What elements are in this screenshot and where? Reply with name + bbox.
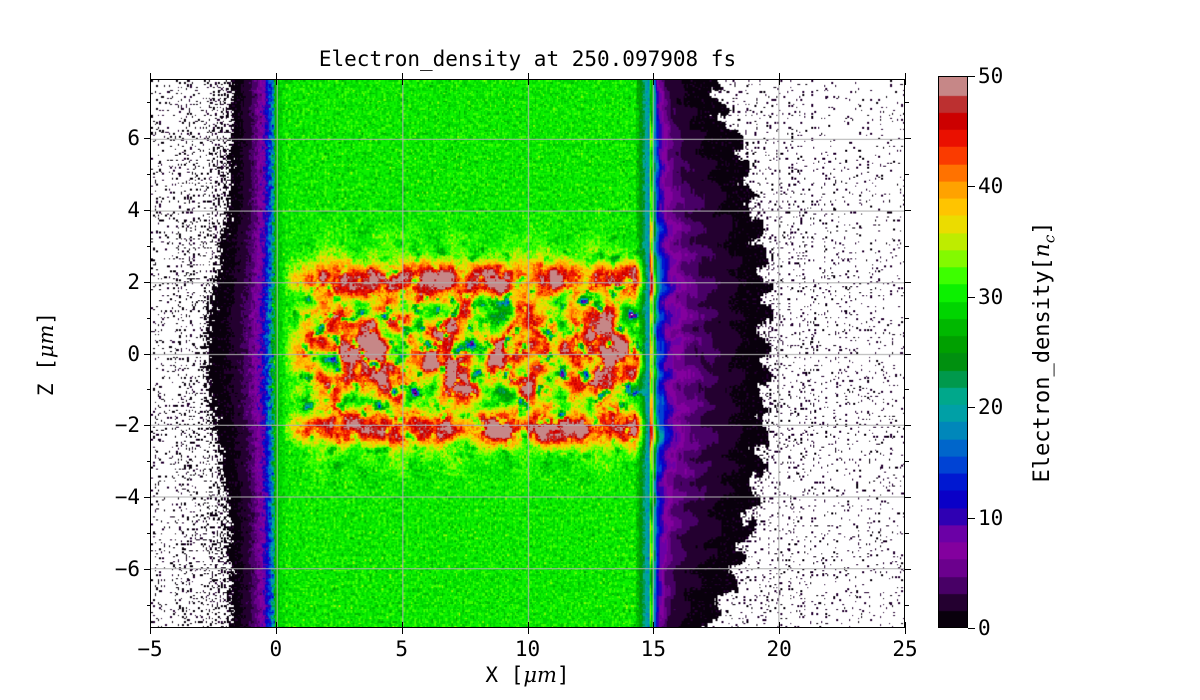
plot-title: Electron_density at 250.097908 fs — [150, 47, 905, 71]
y-tick-label-6: −6 — [96, 557, 140, 581]
y-minor-tick-4-0 — [147, 389, 151, 390]
y-minor-tick-3-0 — [147, 318, 151, 319]
y-minor-tick-0-0 — [147, 102, 151, 103]
x-tick-top-3 — [528, 79, 529, 85]
x-tick-4 — [653, 622, 654, 628]
x-tick-label-0: −5 — [137, 637, 162, 661]
colorbar-tick-5 — [968, 76, 975, 77]
colorbar-label: Electron_density[nc] — [1030, 222, 1058, 483]
colorbar-tick-label-3: 30 — [978, 285, 1003, 309]
y-tick-right-2 — [905, 282, 911, 283]
y-minor-tick-2-1 — [905, 246, 909, 247]
y-tick-label-0: 6 — [96, 126, 140, 150]
y-tick-1 — [144, 210, 150, 211]
y-tick-label-4: −2 — [96, 413, 140, 437]
x-tick-6 — [905, 622, 906, 628]
y-tick-right-3 — [905, 354, 911, 355]
y-tick-right-5 — [905, 497, 911, 498]
x-tick-0 — [150, 622, 151, 628]
colorbar-tick-label-1: 10 — [978, 506, 1003, 530]
y-tick-right-6 — [905, 569, 911, 570]
x-tick-label-3: 10 — [515, 637, 540, 661]
x-tick-top-6 — [905, 79, 906, 85]
y-tick-label-1: 4 — [96, 198, 140, 222]
y-minor-tick-1-0 — [147, 174, 151, 175]
colorbar-label-close: ] — [1030, 222, 1055, 235]
y-minor-tick-2-0 — [147, 246, 151, 247]
x-tick-top-5 — [779, 79, 780, 85]
colorbar-tick-3 — [968, 297, 975, 298]
y-tick-5 — [144, 497, 150, 498]
colorbar-tick-0 — [968, 628, 975, 629]
colorbar-canvas — [939, 77, 967, 627]
x-tick-label-2: 5 — [395, 637, 408, 661]
colorbar-tick-1 — [968, 518, 975, 519]
x-tick-label-4: 15 — [641, 637, 666, 661]
x-tick-top-0 — [150, 79, 151, 85]
x-tick-1 — [276, 628, 277, 634]
y-minor-tick-0-1 — [905, 102, 909, 103]
y-axis-label-text: Z [ — [34, 358, 58, 396]
x-tick-5 — [779, 628, 780, 634]
x-tick-4 — [653, 628, 654, 634]
y-tick-4 — [144, 425, 150, 426]
x-tick-top-1 — [276, 79, 277, 85]
colorbar-tick-label-4: 40 — [978, 174, 1003, 198]
y-minor-tick-4-1 — [905, 389, 909, 390]
heatmap-plot-area — [150, 79, 905, 628]
colorbar-label-text: Electron_density[ — [1030, 257, 1055, 482]
x-tick-top-2 — [402, 79, 403, 85]
y-tick-0 — [144, 138, 150, 139]
x-tick-0 — [150, 628, 151, 634]
x-tick-6 — [905, 628, 906, 634]
x-axis-label-close: ] — [557, 663, 570, 687]
x-axis-label-text: X [ — [485, 663, 523, 687]
x-tick-5 — [779, 622, 780, 628]
y-tick-3 — [144, 354, 150, 355]
x-tick-label-5: 20 — [767, 637, 792, 661]
y-tick-6 — [144, 569, 150, 570]
x-axis-label: X [μm] — [150, 663, 905, 687]
y-axis-label-close: ] — [34, 311, 58, 324]
y-axis-label-unit: μm — [34, 324, 58, 358]
y-minor-tick-3-1 — [905, 318, 909, 319]
y-minor-tick-5-0 — [147, 461, 151, 462]
x-tick-2 — [402, 622, 403, 628]
x-tick-2 — [402, 628, 403, 634]
colorbar-label-symbol: n — [1030, 243, 1055, 257]
x-tick-3 — [528, 622, 529, 628]
y-minor-tick-7-1 — [905, 605, 909, 606]
x-tick-label-6: 25 — [892, 637, 917, 661]
colorbar-tick-label-0: 0 — [978, 616, 991, 640]
y-tick-label-3: 0 — [96, 342, 140, 366]
colorbar-label-subscript: c — [1040, 235, 1058, 243]
y-minor-tick-7-0 — [147, 605, 151, 606]
x-tick-top-4 — [653, 79, 654, 85]
y-tick-right-0 — [905, 138, 911, 139]
y-axis-label: Z [μm] — [34, 311, 58, 395]
x-axis-label-unit: μm — [523, 663, 557, 687]
y-minor-tick-6-1 — [905, 533, 909, 534]
y-tick-label-2: 2 — [96, 270, 140, 294]
x-tick-1 — [276, 622, 277, 628]
x-tick-3 — [528, 628, 529, 634]
x-tick-label-1: 0 — [270, 637, 283, 661]
y-tick-2 — [144, 282, 150, 283]
heatmap-canvas — [151, 80, 904, 627]
y-minor-tick-5-1 — [905, 461, 909, 462]
colorbar-tick-label-2: 20 — [978, 395, 1003, 419]
y-tick-label-5: −4 — [96, 485, 140, 509]
colorbar-tick-2 — [968, 407, 975, 408]
y-tick-right-1 — [905, 210, 911, 211]
y-minor-tick-6-0 — [147, 533, 151, 534]
y-minor-tick-1-1 — [905, 174, 909, 175]
y-tick-right-4 — [905, 425, 911, 426]
colorbar-tick-4 — [968, 186, 975, 187]
colorbar-tick-label-5: 50 — [978, 64, 1003, 88]
colorbar — [938, 76, 968, 628]
